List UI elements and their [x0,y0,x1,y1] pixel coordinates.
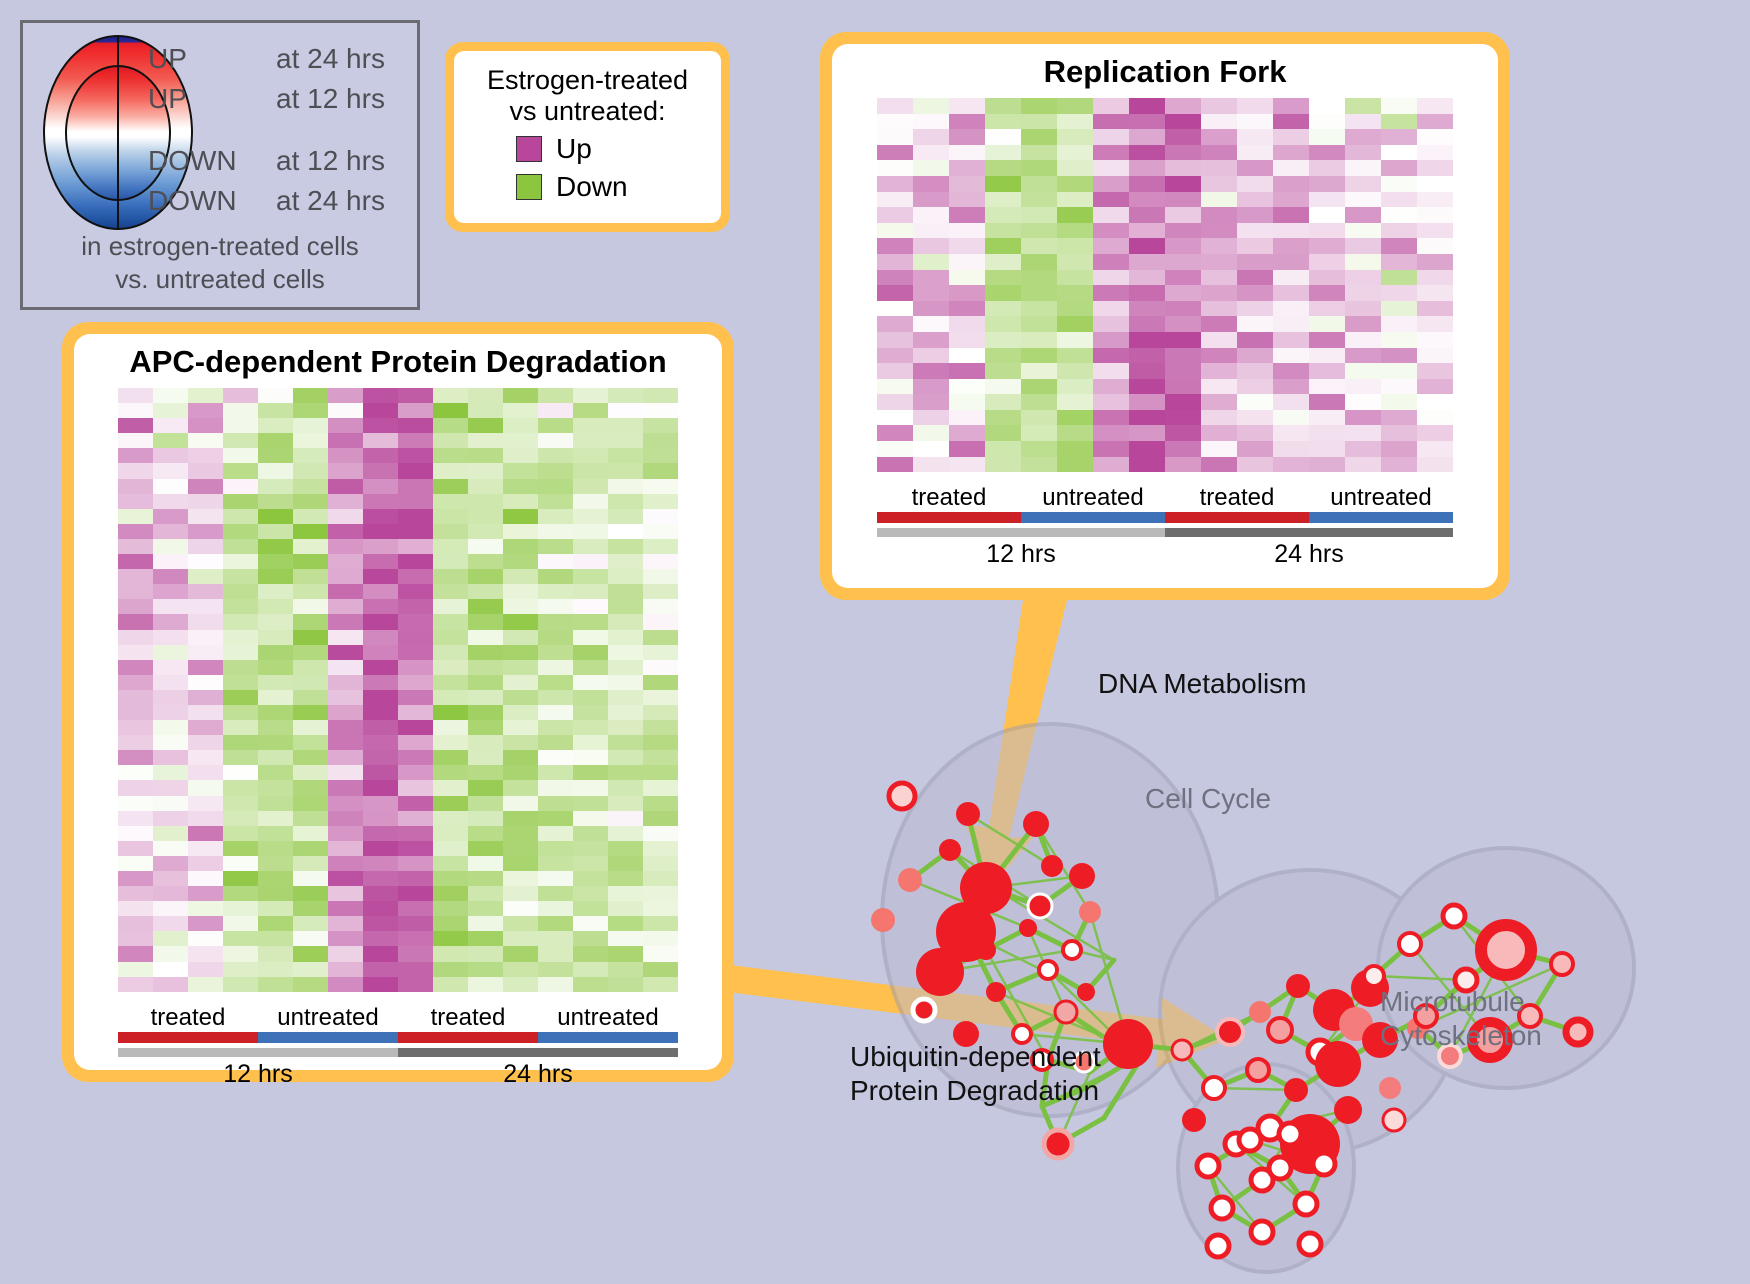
heatmap-cell [1345,176,1381,192]
cluster-label-microtubule: Microtubule [1380,985,1542,1019]
heatmap-cell [643,977,678,992]
heatmap-cell [223,977,258,992]
heatmap-cell [118,811,153,826]
heatmap-cell [1345,114,1381,130]
heatmap-cell [433,433,468,448]
network-diagram: DNA Metabolism Cell Cycle Microtubule Cy… [790,620,1750,1279]
heatmap-cell [223,765,258,780]
heatmap-cell [913,223,949,239]
heatmap-cell [328,735,363,750]
sample-group-color-segment [398,1032,538,1043]
heatmap-cell [1129,114,1165,130]
heatmap-cell [223,448,258,463]
heatmap-cell [608,479,643,494]
heatmap-cell [503,690,538,705]
heatmap-cell [503,614,538,629]
heatmap-cell [538,916,573,931]
heatmap-cell [258,780,293,795]
down-label: Down [556,171,628,203]
heatmap-cell [433,463,468,478]
heatmap-cell [608,750,643,765]
heatmap-cell [985,441,1021,457]
heatmap-cell [1345,410,1381,426]
heatmap-cell [188,946,223,961]
heatmap-cell [1129,379,1165,395]
heatmap-cell [538,418,573,433]
heatmap-cell [1093,285,1129,301]
heatmap-cell [398,660,433,675]
heatmap-cell [258,826,293,841]
heatmap-cell [188,826,223,841]
heatmap-row [118,418,678,433]
heatmap-cell [433,524,468,539]
heatmap-cell [1129,160,1165,176]
heatmap-cell [188,720,223,735]
heatmap-cell [1381,98,1417,114]
heatmap-cell [1129,457,1165,473]
heatmap-cell [118,599,153,614]
heatmap-cell [223,645,258,660]
heatmap-cell [223,509,258,524]
heatmap-cell [1309,207,1345,223]
heatmap-cell [643,690,678,705]
sample-group-color-segment [118,1032,258,1043]
heatmap-cell [258,750,293,765]
heatmap-cell [258,886,293,901]
heatmap-cell [118,901,153,916]
heatmap-cell [573,463,608,478]
heatmap-cell [913,285,949,301]
heatmap-cell [1381,285,1417,301]
heatmap-cell [433,916,468,931]
heatmap-row [877,285,1453,301]
heatmap-cell [1309,410,1345,426]
heatmap-cell [1309,301,1345,317]
heatmap-cell [643,463,678,478]
heatmap-cell [1381,316,1417,332]
figure-canvas: UP at 24 hrs UP at 12 hrs DOWN at 12 hrs… [0,0,1750,1279]
heatmap-cell [188,690,223,705]
heatmap-cell [538,494,573,509]
heatmap-cell [503,539,538,554]
heatmap-cell [398,765,433,780]
heatmap-cell [608,403,643,418]
heatmap-cell [188,539,223,554]
heatmap-cell [468,569,503,584]
key-direction: UP [148,43,276,75]
heatmap-cell [503,479,538,494]
heatmap-cell [1237,145,1273,161]
heatmap-cell [538,977,573,992]
heatmap-cell [1273,160,1309,176]
heatmap-cell [1093,160,1129,176]
heatmap-cell [398,916,433,931]
heatmap-row [118,524,678,539]
heatmap-cell [468,916,503,931]
heatmap-cell [1417,192,1453,208]
heatmap-cell [433,690,468,705]
heatmap-cell [398,509,433,524]
heatmap-cell [1165,254,1201,270]
heatmap-cell [643,750,678,765]
heatmap-cell [1309,129,1345,145]
heatmap-cell [1057,160,1093,176]
heatmap-cell [1165,238,1201,254]
heatmap-cell [1021,176,1057,192]
heatmap-cell [468,524,503,539]
heatmap-cell [223,735,258,750]
heatmap-cell [985,270,1021,286]
heatmap-cell [913,379,949,395]
heatmap-cell [1201,301,1237,317]
cluster-label-protein-degradation: Protein Degradation [850,1074,1101,1108]
heatmap-cell [1057,379,1093,395]
heatmap-cell [503,660,538,675]
heatmap-row [118,539,678,554]
heatmap-cell [877,129,913,145]
heatmap-cell [949,98,985,114]
heatmap-cell [293,780,328,795]
heatmap-cell [1417,457,1453,473]
heatmap-cell [538,720,573,735]
heatmap-cell [1093,332,1129,348]
heatmap-cell [223,886,258,901]
heatmap-cell [949,145,985,161]
heatmap-cell [293,660,328,675]
heatmap-cell [1345,301,1381,317]
heatmap-cell [538,569,573,584]
heatmap-cell [1273,285,1309,301]
heatmap-cell [1237,285,1273,301]
heatmap-cell [985,254,1021,270]
heatmap-row [118,841,678,856]
heatmap-cell [503,463,538,478]
heatmap-cell [468,796,503,811]
heatmap-cell [293,463,328,478]
heatmap-cell [538,765,573,780]
heatmap-row [118,509,678,524]
heatmap-cell [1057,425,1093,441]
heatmap-cell [1021,441,1057,457]
heatmap-cell [573,448,608,463]
heatmap-cell [328,554,363,569]
heatmap-cell [293,554,328,569]
heatmap-cell [1345,160,1381,176]
heatmap-cell [1237,316,1273,332]
heatmap-row [118,871,678,886]
heatmap-cell [293,826,328,841]
heatmap-cell [1345,457,1381,473]
heatmap-cell [1093,207,1129,223]
heatmap-cell [1021,114,1057,130]
heatmap-row [877,410,1453,426]
heatmap-cell [608,554,643,569]
heatmap-cell [188,871,223,886]
heatmap-cell [503,675,538,690]
heatmap-cell [877,176,913,192]
timepoint-color-segment [118,1048,398,1057]
heatmap-cell [1021,285,1057,301]
heatmap-cell [1165,332,1201,348]
legend-item-up: Up [516,133,707,165]
heatmap-cell [153,720,188,735]
heatmap-cell [258,962,293,977]
heatmap-cell [433,418,468,433]
heatmap-cell [363,569,398,584]
heatmap-cell [643,916,678,931]
heatmap-cell [608,524,643,539]
heatmap-cell [949,192,985,208]
heatmap-cell [985,207,1021,223]
heatmap-cell [153,871,188,886]
heatmap-cell [1345,425,1381,441]
heatmap-cell [433,826,468,841]
heatmap-cell [223,418,258,433]
color-key-footer-line2: vs. untreated cells [23,263,417,296]
heatmap-cell [877,301,913,317]
heatmap-cell [985,410,1021,426]
heatmap-cell [153,418,188,433]
heatmap-cell [538,584,573,599]
heatmap-cell [503,494,538,509]
updown-legend-inner: Estrogen-treated vs untreated: Up Down [454,51,721,223]
heatmap-cell [293,856,328,871]
heatmap-cell [1381,270,1417,286]
heatmap-row [118,569,678,584]
heatmap-cell [1273,270,1309,286]
heatmap-cell [1057,301,1093,317]
heatmap-cell [503,448,538,463]
heatmap-cell [1345,363,1381,379]
heatmap-cell [468,871,503,886]
heatmap-cell [877,223,913,239]
heatmap-cell [877,98,913,114]
heatmap-cell [1165,145,1201,161]
heatmap-cell [398,418,433,433]
heatmap-cell [1093,254,1129,270]
heatmap-cell [1309,176,1345,192]
heatmap-cell [328,418,363,433]
heatmap-cell [1381,394,1417,410]
heatmap-row [118,614,678,629]
heatmap-cell [1165,129,1201,145]
heatmap-cell [573,509,608,524]
heatmap-cell [258,630,293,645]
heatmap-cell [1021,332,1057,348]
heatmap-cell [643,388,678,403]
heatmap-cell [328,811,363,826]
heatmap-cell [433,871,468,886]
heatmap-cell [1309,457,1345,473]
heatmap-cell [1129,192,1165,208]
heatmap-cell [1129,98,1165,114]
heatmap-cell [573,433,608,448]
heatmap-cell [293,630,328,645]
heatmap-cell [1309,270,1345,286]
heatmap-cell [1093,129,1129,145]
color-key-rows: UP at 24 hrs UP at 12 hrs DOWN at 12 hrs… [148,43,413,225]
heatmap-cell [573,750,608,765]
heatmap-cell [608,614,643,629]
heatmap-cell [1129,316,1165,332]
heatmap-row [118,630,678,645]
heatmap-cell [985,98,1021,114]
heatmap-cell [398,403,433,418]
heatmap-cell [503,645,538,660]
heatmap-cell [1201,254,1237,270]
heatmap-cell [913,316,949,332]
key-row-up-12: UP at 12 hrs [148,83,413,123]
heatmap-cell [258,931,293,946]
heatmap-cell [468,690,503,705]
heatmap-cell [363,418,398,433]
heatmap-cell [503,901,538,916]
heatmap-cell [293,675,328,690]
heatmap-cell [1057,207,1093,223]
heatmap-cell [1417,98,1453,114]
heatmap-cell [1129,410,1165,426]
heatmap-row [877,160,1453,176]
heatmap-cell [503,796,538,811]
key-time: at 12 hrs [276,83,385,115]
heatmap-cell [1093,441,1129,457]
heatmap-cell [433,901,468,916]
heatmap-cell [328,780,363,795]
heatmap-cell [1381,425,1417,441]
heatmap-cell [1417,238,1453,254]
heatmap-cell [1093,363,1129,379]
heatmap-cell [608,630,643,645]
heatmap-cell [1093,176,1129,192]
heatmap-cell [153,509,188,524]
heatmap-cell [468,826,503,841]
heatmap-cell [328,524,363,539]
heatmap-cell [468,977,503,992]
heatmap-cell [118,871,153,886]
heatmap-cell [118,524,153,539]
heatmap-cell [1237,379,1273,395]
heatmap-cell [223,675,258,690]
heatmap-cell [398,690,433,705]
heatmap-cell [188,811,223,826]
heatmap-cell [328,750,363,765]
heatmap-cell [573,494,608,509]
heatmap-cell [949,270,985,286]
key-row-down-24: DOWN at 24 hrs [148,185,413,225]
heatmap-cell [1345,207,1381,223]
heatmap-cell [608,448,643,463]
heatmap-cell [538,856,573,871]
heatmap-cell [1417,254,1453,270]
heatmap-cell [643,509,678,524]
heatmap-cell [608,690,643,705]
heatmap-cell [1201,425,1237,441]
heatmap-row [877,425,1453,441]
heatmap-cell [363,479,398,494]
heatmap-cell [118,509,153,524]
heatmap-cell [1381,332,1417,348]
heatmap-cell [188,494,223,509]
heatmap-cell [433,479,468,494]
heatmap-cell [433,856,468,871]
heatmap-cell [363,599,398,614]
heatmap-cell [1273,441,1309,457]
heatmap-cell [468,614,503,629]
heatmap-cell [363,916,398,931]
heatmap-cell [328,509,363,524]
heatmap-cell [1309,316,1345,332]
heatmap-cell [398,977,433,992]
heatmap-cell [1165,98,1201,114]
heatmap-cell [433,660,468,675]
heatmap-cell [608,675,643,690]
heatmap-cell [643,494,678,509]
heatmap-cell [363,524,398,539]
heatmap-cell [1021,145,1057,161]
heatmap-cell [643,569,678,584]
sample-group-color-segment [1309,512,1453,523]
heatmap-replication-fork [877,98,1453,472]
heatmap-row [118,463,678,478]
heatmap-cell [363,660,398,675]
heatmap-row [877,363,1453,379]
heatmap-row [877,457,1453,473]
heatmap-cell [538,630,573,645]
heatmap-cell [1165,285,1201,301]
heatmap-cell [877,316,913,332]
heatmap-cell [985,192,1021,208]
heatmap-cell [258,494,293,509]
heatmap-cell [1021,457,1057,473]
heatmap-cell [118,388,153,403]
heatmap-cell [433,614,468,629]
heatmap-cell [1165,425,1201,441]
heatmap-cell [153,630,188,645]
heatmap-cell [643,720,678,735]
heatmap-cell [363,645,398,660]
heatmap-cell [877,145,913,161]
heatmap-cell [363,720,398,735]
heatmap-cell [1201,160,1237,176]
heatmap-cell [363,735,398,750]
heatmap-cell [608,463,643,478]
heatmap-cell [1021,207,1057,223]
heatmap-cell [468,765,503,780]
heatmap-cell [1273,114,1309,130]
heatmap-cell [949,160,985,176]
heatmap-cell [188,977,223,992]
sample-group-label: treated [1165,484,1309,512]
heatmap-cell [1309,145,1345,161]
heatmap-cell [1093,114,1129,130]
heatmap-row [118,479,678,494]
heatmap-cell [258,584,293,599]
heatmap-cell [153,524,188,539]
heatmap-cell [398,675,433,690]
heatmap-cell [188,630,223,645]
heatmap-cell [643,886,678,901]
heatmap-cell [608,931,643,946]
heatmap-row [118,856,678,871]
heatmap-cell [363,554,398,569]
heatmap-cell [293,569,328,584]
heatmap-cell [153,886,188,901]
heatmap-cell [503,599,538,614]
heatmap-cell [188,931,223,946]
heatmap-cell [258,599,293,614]
heatmap-cell [433,645,468,660]
heatmap-cell [363,463,398,478]
